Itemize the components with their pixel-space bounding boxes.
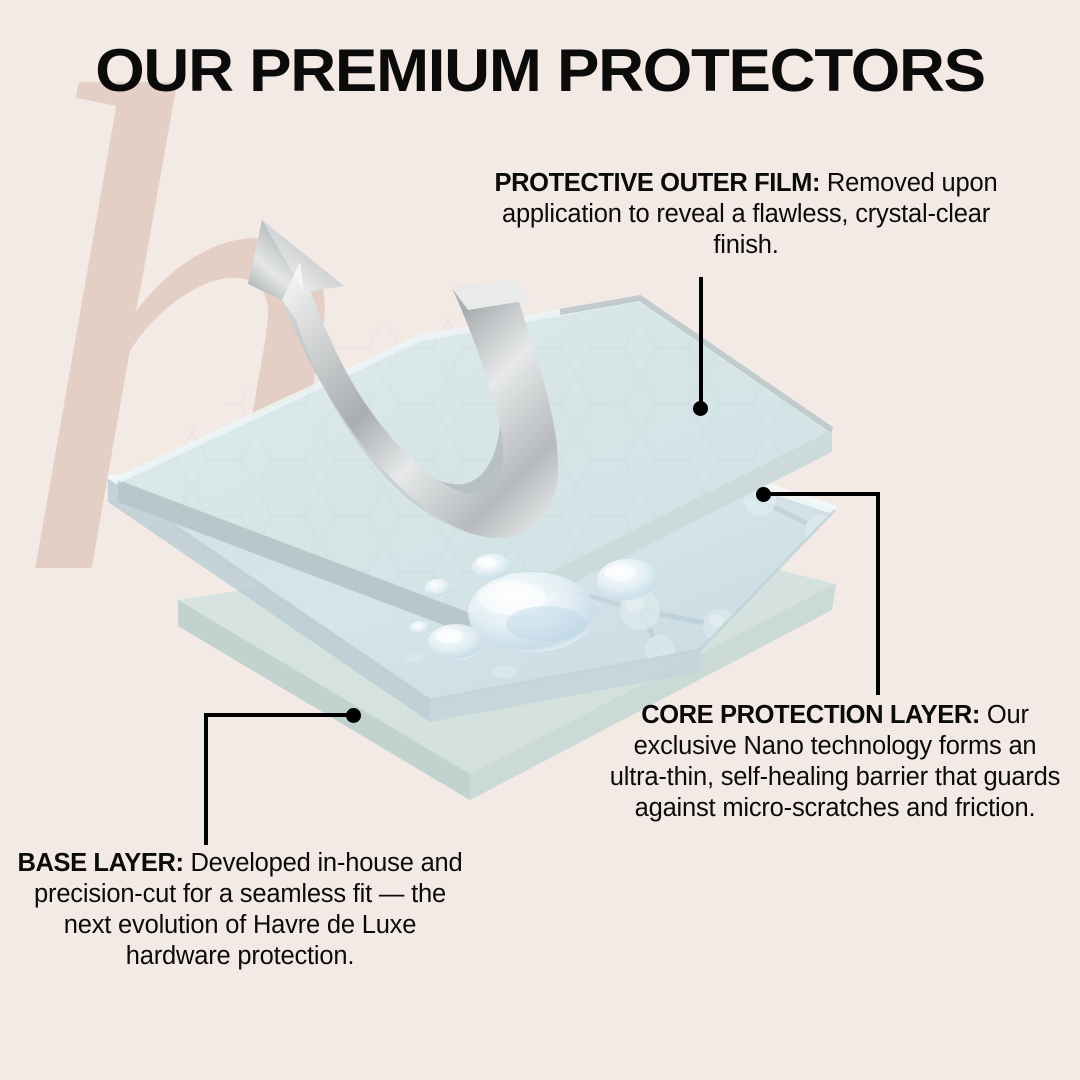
- callout-heading-protective-outer-film: PROTECTIVE OUTER FILM:: [495, 169, 821, 197]
- leader-dot-protective-outer-film: [693, 401, 708, 416]
- leader-line-core-v: [876, 492, 880, 695]
- page-title: OUR PREMIUM PROTECTORS: [0, 36, 1080, 105]
- leader-line-base-h: [204, 713, 356, 717]
- callout-heading-base-layer: BASE LAYER:: [17, 849, 183, 877]
- leader-line-core-h: [769, 492, 880, 496]
- callout-heading-core-protection-layer: CORE PROTECTION LAYER:: [641, 701, 980, 729]
- poster-canvas: h OUR PREMIUM PROTECTORS: [0, 0, 1080, 1080]
- callout-base-layer: BASE LAYER: Developed in-house and preci…: [8, 848, 472, 971]
- leader-dot-base-layer: [346, 708, 361, 723]
- callout-core-protection-layer: CORE PROTECTION LAYER: Our exclusive Nan…: [604, 700, 1066, 823]
- leader-line-base-v: [204, 713, 208, 845]
- callout-protective-outer-film: PROTECTIVE OUTER FILM: Removed upon appl…: [468, 168, 1024, 261]
- leader-dot-core-protection-layer: [756, 487, 771, 502]
- leader-line-protective-outer-film: [699, 277, 703, 409]
